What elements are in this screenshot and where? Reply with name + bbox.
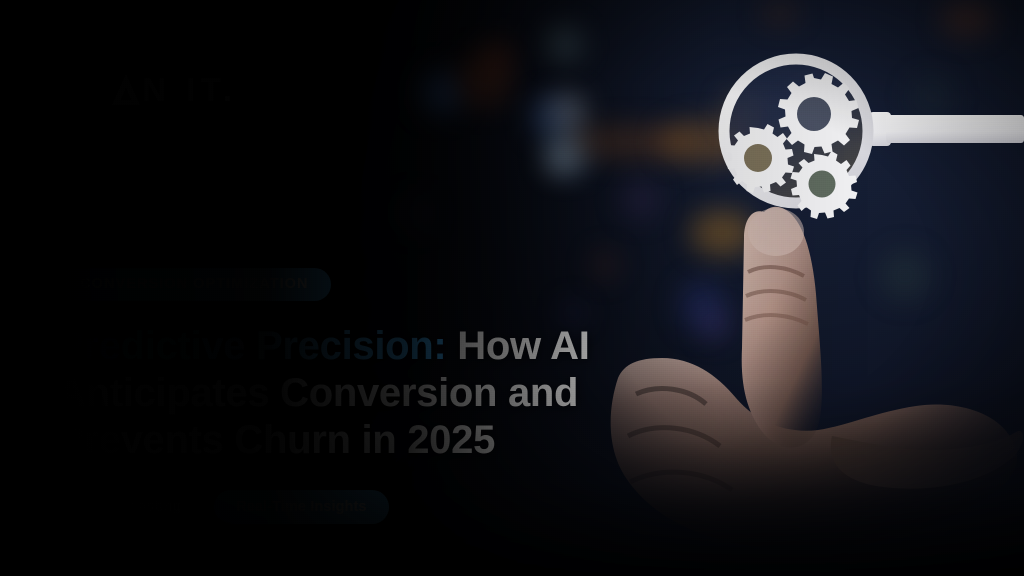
film-grain-overlay xyxy=(0,0,1024,576)
hero-banner: LE N IT. CONVERSION OPTIMIZATION Predict… xyxy=(0,0,1024,576)
